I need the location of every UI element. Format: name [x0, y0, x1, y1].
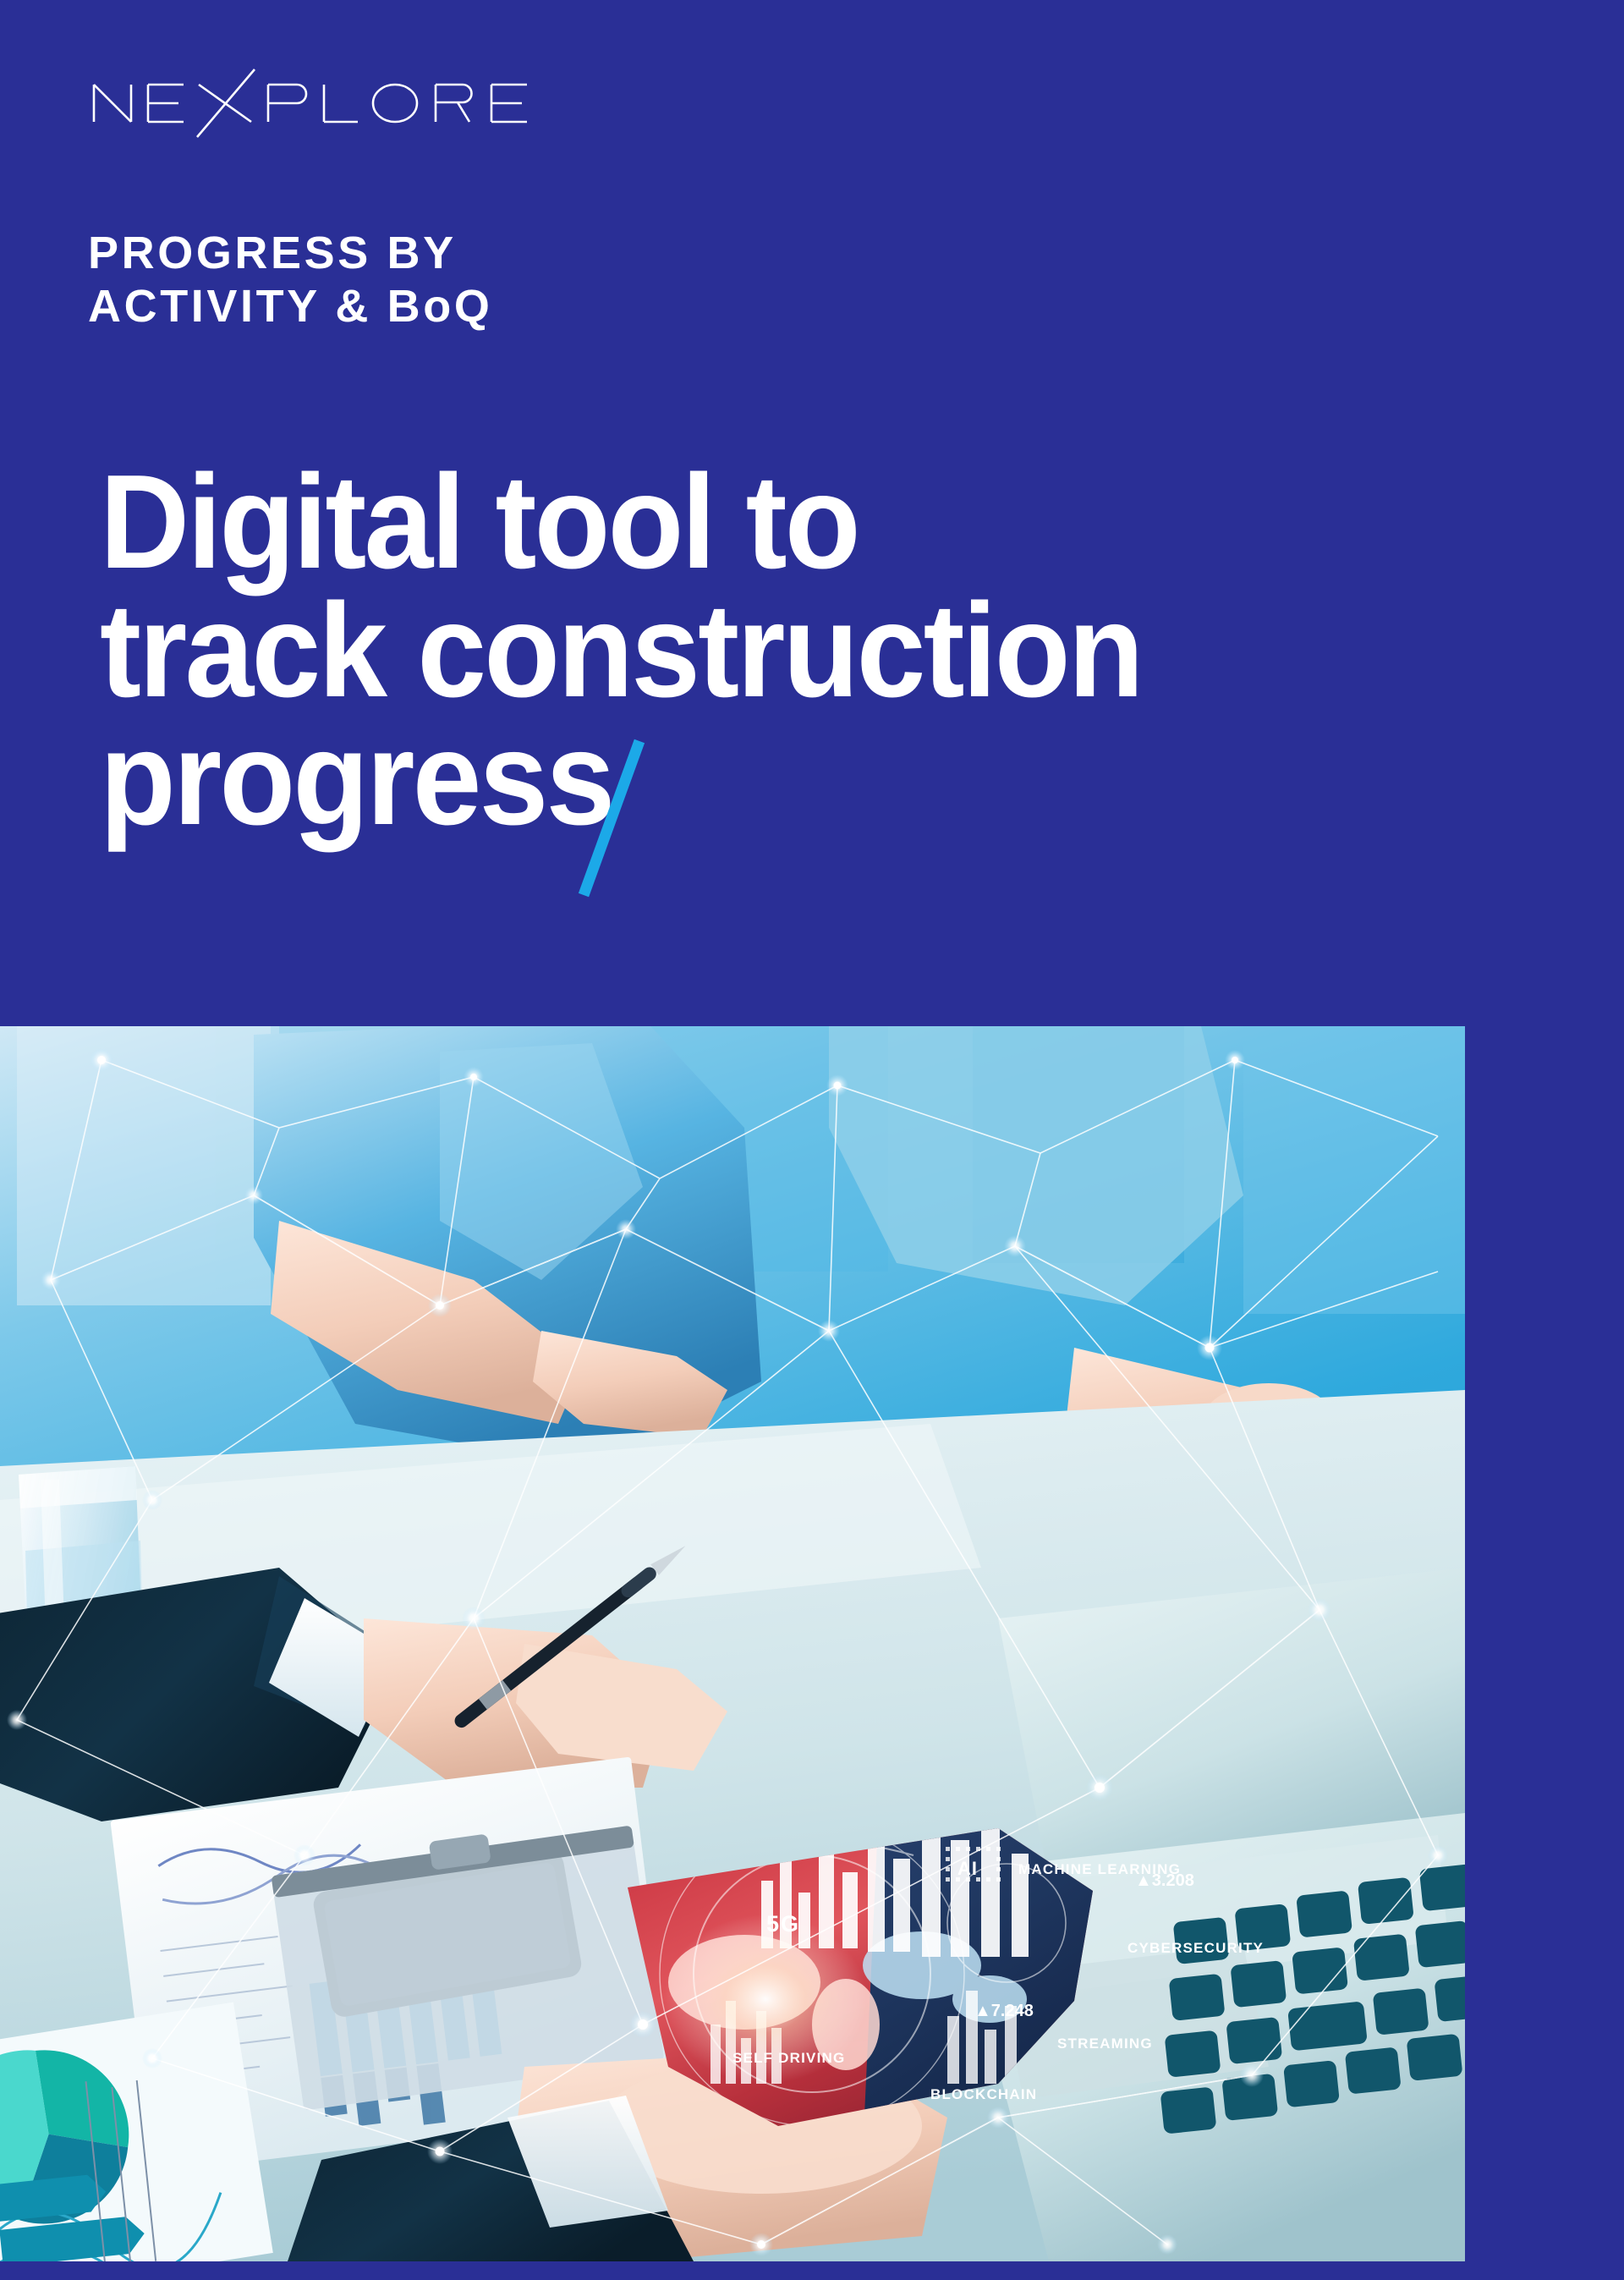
headline-line-2: track construction	[100, 587, 1374, 716]
headline-line-3: progress	[100, 715, 612, 843]
hud-label-blockchain: BLOCKCHAIN	[930, 2086, 1037, 2102]
nexplore-logo-mark	[89, 69, 562, 137]
headline-line-1: Digital tool to	[100, 459, 1374, 587]
hud-value-3208: ▲3.208	[1135, 1871, 1194, 1890]
nexplore-logo	[89, 69, 562, 137]
product-eyebrow: PROGRESS BY ACTIVITY & BoQ	[88, 227, 492, 332]
cover-page: PROGRESS BY ACTIVITY & BoQ Digital tool …	[0, 0, 1624, 2280]
hud-label-ai: AI	[957, 1858, 978, 1879]
hud-value-7248: ▲7.248	[974, 2002, 1034, 2020]
hud-label-5g: 5G	[766, 1911, 800, 1937]
hud-label-cybersecurity: CYBERSECURITY	[1127, 1940, 1264, 1956]
cover-photo: 5G AI MACHINE LEARNING CYBERSECURITY STR…	[0, 1026, 1465, 2261]
header-panel: PROGRESS BY ACTIVITY & BoQ Digital tool …	[0, 0, 1624, 1026]
cover-photo-illustration: 5G AI MACHINE LEARNING CYBERSECURITY STR…	[0, 1026, 1465, 2261]
hud-label-self-driving: SELF DRIVING	[732, 2050, 845, 2066]
cover-headline: Digital tool to track construction progr…	[100, 459, 1470, 843]
hud-label-streaming: STREAMING	[1057, 2036, 1153, 2052]
